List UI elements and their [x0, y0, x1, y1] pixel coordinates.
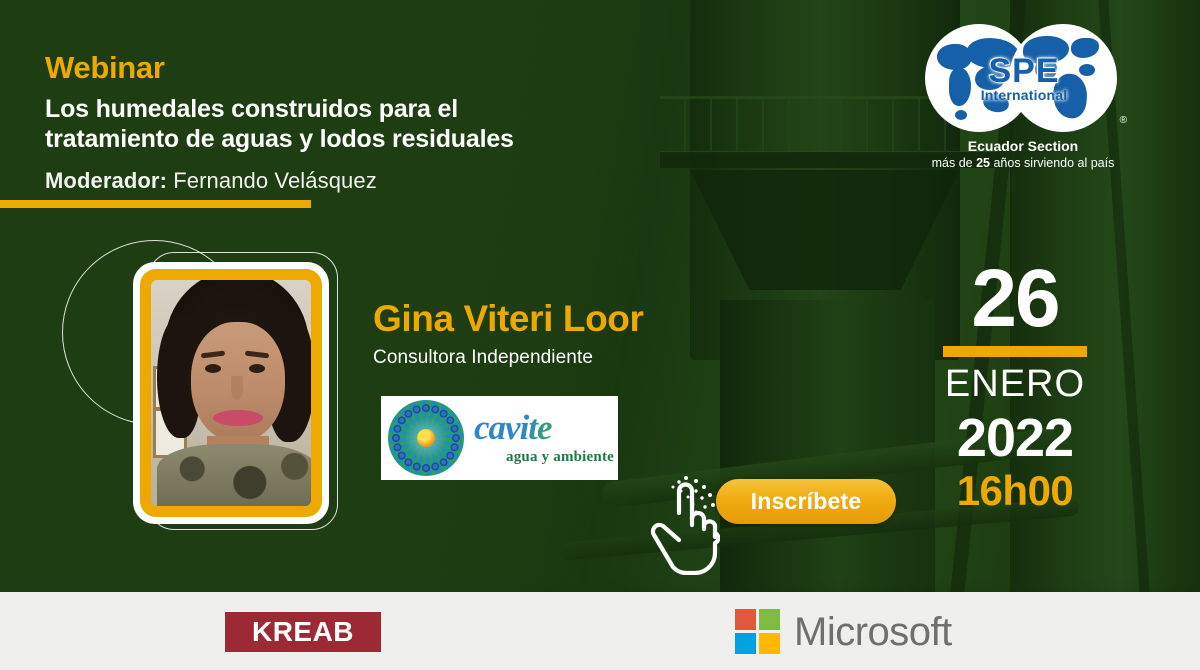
microsoft-wordmark: Microsoft: [794, 612, 952, 652]
header-block: Webinar Los humedales construidos para e…: [45, 52, 665, 194]
microsoft-logo: Microsoft: [735, 609, 952, 654]
spe-wordmark-main: SPE: [969, 54, 1079, 88]
inscribete-button[interactable]: Inscríbete: [716, 479, 896, 524]
footer-partner-bar: KREAB Microsoft: [0, 592, 1200, 670]
cavite-mandala-icon: [384, 399, 468, 477]
spe-tagline: más de 25 años sirviendo al país: [925, 156, 1121, 170]
moderator-label: Moderador:: [45, 168, 167, 193]
spe-logo: SPE International ® Ecuador Section más …: [925, 24, 1121, 170]
spe-wordmark-sub: International: [969, 88, 1079, 102]
speaker-role: Consultora Independiente: [373, 347, 703, 369]
speaker-name: Gina Viteri Loor: [373, 300, 703, 337]
header-divider-rule: [0, 200, 311, 208]
spe-globes: SPE International ®: [925, 24, 1121, 132]
event-month: ENERO: [930, 365, 1100, 403]
speaker-block: Gina Viteri Loor Consultora Independient…: [373, 300, 703, 369]
spe-tagline-years: 25: [976, 156, 990, 170]
registered-trademark-icon: ®: [1120, 115, 1127, 126]
spe-section-name: Ecuador Section: [925, 138, 1121, 154]
event-day: 26: [930, 258, 1100, 340]
speaker-photo-gold-border: [140, 269, 322, 517]
moderator-line: Moderador: Fernando Velásquez: [45, 168, 665, 194]
spe-tagline-post: años sirviendo al país: [990, 156, 1114, 170]
moderator-name: Fernando Velásquez: [173, 168, 377, 193]
webinar-title: Los humedales construidos para el tratam…: [45, 94, 665, 155]
event-year: 2022: [930, 411, 1100, 465]
spe-tagline-pre: más de: [932, 156, 976, 170]
date-divider-bar: [943, 346, 1087, 357]
webinar-kicker: Webinar: [45, 52, 665, 85]
hand-tap-icon: [648, 473, 720, 575]
cavite-logo: cavite agua y ambiente: [381, 396, 618, 480]
cavite-wordmark: cavite: [474, 410, 618, 445]
speaker-photo: [151, 280, 311, 506]
webinar-title-line-1: Los humedales construidos para el: [45, 94, 665, 125]
kreab-logo: KREAB: [225, 612, 381, 652]
spe-wordmark: SPE International: [969, 54, 1079, 102]
speaker-photo-frame: [133, 262, 329, 524]
event-time: 16h00: [930, 470, 1100, 512]
webinar-title-line-2: tratamiento de aguas y lodos residuales: [45, 124, 665, 155]
microsoft-squares-icon: [735, 609, 780, 654]
webinar-poster: Webinar Los humedales construidos para e…: [0, 0, 1200, 670]
cavite-text: cavite agua y ambiente: [468, 410, 618, 466]
event-date-block: 26 ENERO 2022 16h00: [930, 258, 1100, 512]
cavite-tagline: agua y ambiente: [474, 449, 618, 466]
